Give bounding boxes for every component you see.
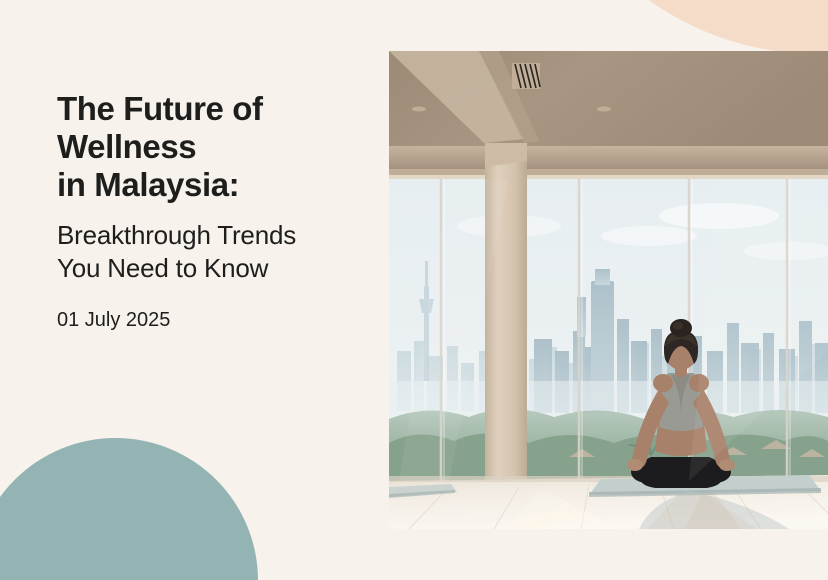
text-column: The Future ofWellnessin Malaysia: Breakt… <box>57 90 367 332</box>
teal-circle-shape <box>0 438 258 580</box>
headline-line-3: in Malaysia: <box>57 166 239 203</box>
subheadline-line-1: Breakthrough Trends <box>57 220 296 250</box>
yoga-studio-illustration <box>389 51 828 529</box>
ceiling-vent <box>512 63 540 89</box>
page-subtitle: Breakthrough TrendsYou Need to Know <box>57 219 367 285</box>
poster-canvas: The Future ofWellnessin Malaysia: Breakt… <box>0 0 828 580</box>
headline-line-1: The Future of <box>57 90 263 127</box>
publish-date: 01 July 2025 <box>57 308 367 332</box>
page-title: The Future ofWellnessin Malaysia: <box>57 90 367 204</box>
headline-line-2: Wellness <box>57 128 196 165</box>
yoga-studio-photo <box>389 51 828 529</box>
peach-corner-shape <box>527 0 828 54</box>
subheadline-line-2: You Need to Know <box>57 253 268 283</box>
